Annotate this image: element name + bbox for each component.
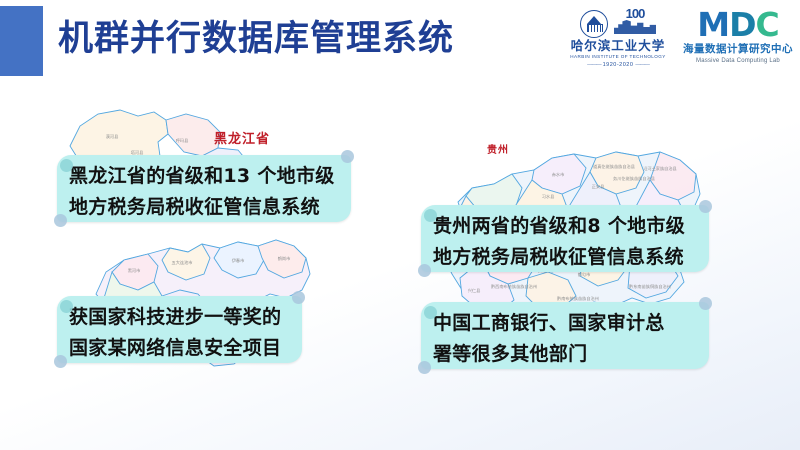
svg-text:黔西南布依族苗族自治州: 黔西南布依族苗族自治州 <box>491 283 537 290</box>
title-accent-bar <box>0 6 43 76</box>
callout-cap-top-right-icon <box>699 200 712 213</box>
callout-cap-top-right-icon <box>699 297 712 310</box>
callout-line-2: 国家某网络信息安全项目 <box>69 333 292 364</box>
callout-line-2: 署等很多其他部门 <box>433 339 699 370</box>
callout-heilongjiang-tax-system: 黑龙江省的省级和13 个地市级 地方税务局税收征管信息系统 <box>57 155 351 222</box>
page-title: 机群并行数据库管理系统 <box>58 16 454 62</box>
mdc-name-en: Massive Data Computing Lab <box>682 57 794 66</box>
svg-text:黔南布依族苗族自治州: 黔南布依族苗族自治州 <box>557 295 599 302</box>
svg-text:漠河县: 漠河县 <box>106 133 119 140</box>
svg-text:赤水市: 赤水市 <box>552 171 565 178</box>
svg-text:五大连池市: 五大连池市 <box>172 259 193 266</box>
mdc-wordmark: MDC <box>682 8 794 42</box>
svg-text:鹤岗市: 鹤岗市 <box>278 255 291 262</box>
hit-anniversary-number: 100 <box>614 8 656 20</box>
svg-text:正安县: 正安县 <box>592 183 605 190</box>
svg-text:务川仡佬族苗族自治县: 务川仡佬族苗族自治县 <box>613 175 655 182</box>
callout-line-1: 中国工商银行、国家审计总 <box>433 308 699 339</box>
mdc-letter-c: C <box>756 5 779 44</box>
mdc-name-cn: 海量数据计算研究中心 <box>682 42 794 57</box>
hit-logo: 100 哈尔滨工业大学 HARBIN INSTITUTE OF TECHNOLO… <box>564 8 672 69</box>
hit-name-en: HARBIN INSTITUTE OF TECHNOLOGY <box>564 53 672 61</box>
mdc-letter-m: M <box>697 5 729 44</box>
callout-cap-bottom-left-icon <box>418 361 431 374</box>
svg-text:伊春市: 伊春市 <box>232 257 245 264</box>
hit-logo-marks: 100 <box>564 8 672 38</box>
callout-cap-top-right-icon <box>341 150 354 163</box>
callout-line-1: 贵州两省的省级和8 个地市级 <box>433 211 699 242</box>
hit-seal-icon <box>580 10 608 38</box>
logo-group: 100 哈尔滨工业大学 HARBIN INSTITUTE OF TECHNOLO… <box>564 8 794 69</box>
guizhou-map-label: 贵州 <box>487 141 509 156</box>
svg-text:兴仁县: 兴仁县 <box>468 287 481 294</box>
mdc-letter-d: D <box>729 5 755 44</box>
callout-cap-top-left-icon <box>424 306 437 319</box>
mdc-logo: MDC 海量数据计算研究中心 Massive Data Computing La… <box>682 8 794 66</box>
callout-line-2: 地方税务局税收征管信息系统 <box>69 192 341 223</box>
callout-line-2: 地方税务局税收征管信息系统 <box>433 242 699 273</box>
svg-text:黑河市: 黑河市 <box>128 267 141 274</box>
svg-text:道真仡佬族苗族自治县: 道真仡佬族苗族自治县 <box>593 163 635 170</box>
callout-cap-top-right-icon <box>292 291 305 304</box>
heilongjiang-map-label: 黑龙江省 <box>214 128 270 147</box>
callout-cap-bottom-left-icon <box>54 214 67 227</box>
callout-cap-bottom-left-icon <box>418 264 431 277</box>
callout-cap-top-left-icon <box>60 300 73 313</box>
svg-text:呼玛县: 呼玛县 <box>176 137 189 144</box>
svg-text:黔东南苗族侗族自治州: 黔东南苗族侗族自治州 <box>629 283 671 290</box>
callout-guizhou-tax-system: 贵州两省的省级和8 个地市级 地方税务局税收征管信息系统 <box>421 205 709 272</box>
callout-national-award-project: 获国家科技进步一等奖的 国家某网络信息安全项目 <box>57 296 302 363</box>
hit-building-icon <box>614 20 656 34</box>
hit-anniversary-years: 1920-2020 <box>564 61 672 69</box>
callout-line-1: 获国家科技进步一等奖的 <box>69 302 292 333</box>
svg-text:习水县: 习水县 <box>542 193 555 200</box>
callout-cap-bottom-left-icon <box>54 355 67 368</box>
hit-anniversary-icon: 100 <box>614 8 656 38</box>
callout-other-departments: 中国工商银行、国家审计总 署等很多其他部门 <box>421 302 709 369</box>
callout-cap-top-left-icon <box>60 159 73 172</box>
callout-cap-top-left-icon <box>424 209 437 222</box>
hit-name-cn: 哈尔滨工业大学 <box>564 38 672 53</box>
svg-text:沿河土家族自治县: 沿河土家族自治县 <box>643 165 677 172</box>
callout-line-1: 黑龙江省的省级和13 个地市级 <box>69 161 341 192</box>
slide-canvas: 机群并行数据库管理系统 100 哈尔滨工业大学 HARBIN INSTITUTE… <box>0 0 800 450</box>
